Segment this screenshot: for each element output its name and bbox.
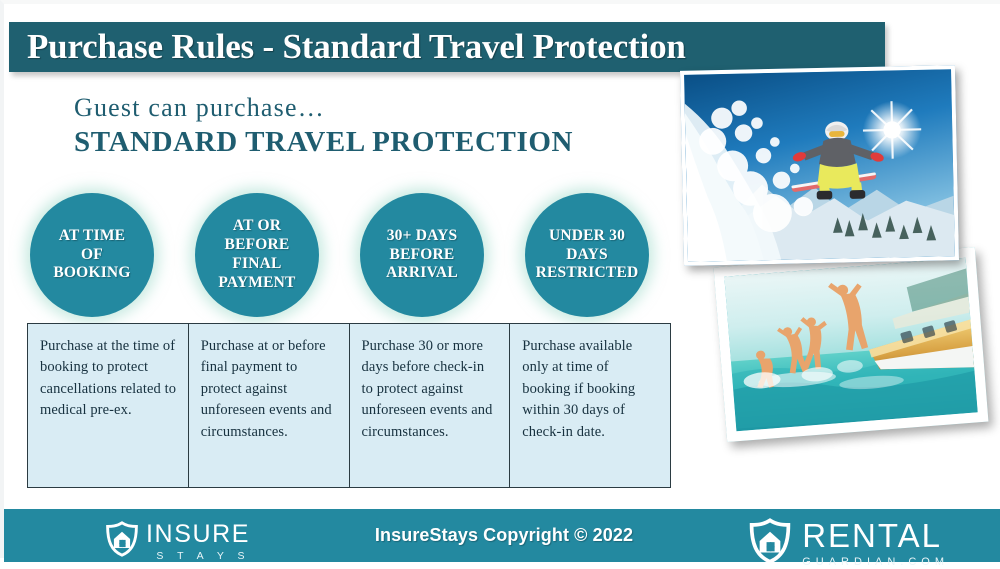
beach-boat-photo-image <box>724 258 977 432</box>
description-box: Purchase available only at time of booki… <box>510 324 670 487</box>
description-box: Purchase at the time of booking to prote… <box>28 324 189 487</box>
timing-circle-label: UNDER 30DAYSRESTRICTED <box>530 227 645 284</box>
description-text: Purchase available only at time of booki… <box>522 336 660 443</box>
description-text: Purchase at or before final payment to p… <box>201 336 339 443</box>
insure-stays-sub-text: S T A Y S <box>146 551 250 562</box>
timing-circle-label: AT TIMEOFBOOKING <box>47 227 136 284</box>
subtitle-product-name: STANDARD TRAVEL PROTECTION <box>74 127 674 157</box>
rental-guardian-logo[interactable]: RENTAL GUARDIAN.COM <box>747 518 949 569</box>
rental-guardian-wordmark: RENTAL GUARDIAN.COM <box>802 519 949 568</box>
subtitle-block: Guest can purchase… STANDARD TRAVEL PROT… <box>74 94 674 158</box>
timing-circle-label: AT ORBEFOREFINALPAYMENT <box>212 217 301 293</box>
subtitle-intro: Guest can purchase… <box>74 94 674 121</box>
description-box: Purchase at or before final payment to p… <box>189 324 350 487</box>
snowboarder-photo-image <box>684 69 955 262</box>
snowboarder-photo <box>680 65 959 266</box>
rental-guardian-sub-text: GUARDIAN.COM <box>802 557 949 568</box>
shield-house-icon <box>747 518 793 569</box>
page-title: Purchase Rules - Standard Travel Protect… <box>9 27 686 67</box>
timing-circle-at-time-of-booking[interactable]: AT TIMEOFBOOKING <box>30 193 154 317</box>
timing-circle-30-plus-days-before-arrival[interactable]: 30+ DAYSBEFOREARRIVAL <box>360 193 484 317</box>
header-bar: Purchase Rules - Standard Travel Protect… <box>9 22 885 72</box>
slide-canvas: Purchase Rules - Standard Travel Protect… <box>0 0 1000 558</box>
footer-bar: INSURE S T A Y S InsureStays Copyright ©… <box>4 509 1000 562</box>
description-box: Purchase 30 or more days before check-in… <box>350 324 511 487</box>
description-text: Purchase at the time of booking to prote… <box>40 336 178 422</box>
timing-circles-group: AT TIMEOFBOOKING AT ORBEFOREFINALPAYMENT… <box>30 193 670 317</box>
beach-boat-photo <box>714 247 989 442</box>
timing-circle-at-or-before-final-payment[interactable]: AT ORBEFOREFINALPAYMENT <box>195 193 319 317</box>
description-text: Purchase 30 or more days before check-in… <box>362 336 500 443</box>
rental-guardian-main-text: RENTAL <box>802 519 949 552</box>
timing-circle-under-30-days-restricted[interactable]: UNDER 30DAYSRESTRICTED <box>525 193 649 317</box>
timing-circle-label: 30+ DAYSBEFOREARRIVAL <box>380 227 464 284</box>
description-boxes-row: Purchase at the time of booking to prote… <box>27 323 671 488</box>
